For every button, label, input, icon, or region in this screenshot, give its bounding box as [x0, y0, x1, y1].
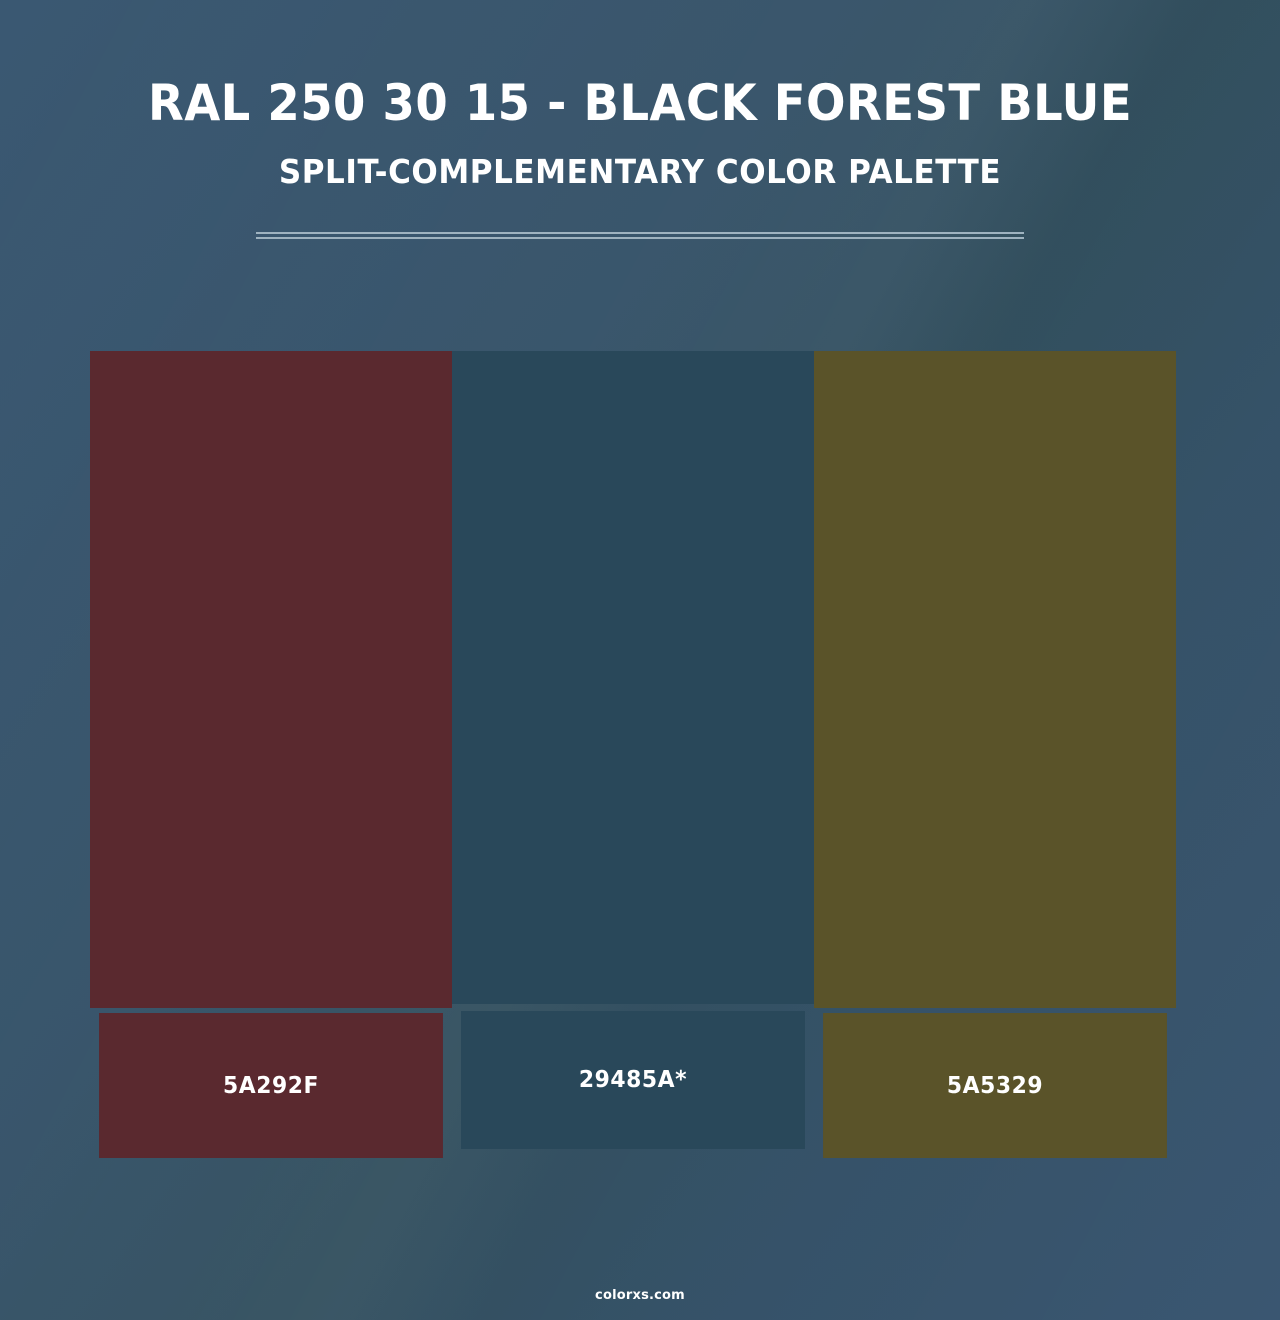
color-swatch-label-2[interactable]: 29485A*: [461, 1011, 805, 1149]
swatch-column-1[interactable]: 5A292F: [90, 351, 452, 1158]
color-hex-text-3: 5A5329: [947, 1073, 1043, 1099]
swatch-column-3[interactable]: 5A5329: [814, 351, 1176, 1158]
color-swatch-1[interactable]: [90, 351, 452, 1008]
color-swatch-label-3[interactable]: 5A5329: [823, 1013, 1167, 1158]
page-title: RAL 250 30 15 - BLACK FOREST BLUE: [45, 71, 1235, 135]
page-subtitle: SPLIT-COMPLEMENTARY COLOR PALETTE: [38, 151, 1241, 193]
divider-line-top: [256, 232, 1024, 234]
color-hex-text-2: 29485A*: [579, 1067, 687, 1093]
palette-page: RAL 250 30 15 - BLACK FOREST BLUE SPLIT-…: [0, 0, 1280, 1320]
header: RAL 250 30 15 - BLACK FOREST BLUE SPLIT-…: [0, 0, 1280, 193]
site-credit: colorxs.com: [595, 1288, 685, 1303]
color-hex-text-1: 5A292F: [223, 1073, 319, 1099]
color-palette: 5A292F 29485A* 5A5329: [90, 351, 1176, 1158]
color-swatch-2[interactable]: [452, 351, 814, 1004]
color-swatch-3[interactable]: [814, 351, 1176, 1008]
footer: colorxs.com: [0, 1288, 1280, 1303]
color-swatch-label-1[interactable]: 5A292F: [99, 1013, 443, 1158]
title-divider: [256, 232, 1024, 239]
divider-line-bottom: [256, 237, 1024, 239]
swatch-column-2[interactable]: 29485A*: [452, 351, 814, 1158]
